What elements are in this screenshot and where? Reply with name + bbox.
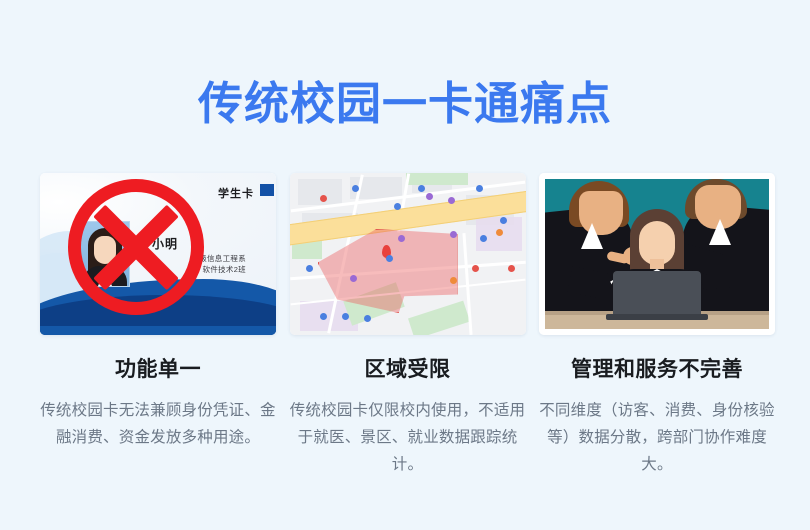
map-poi-icon <box>350 275 357 282</box>
card-title: 学生卡 <box>218 185 254 201</box>
map-poi-icon <box>342 313 349 320</box>
wave-base <box>40 326 276 335</box>
red-cross-icon <box>68 179 204 315</box>
card-heading: 区域受限 <box>290 353 526 383</box>
infographic-page: 传统校园一卡通痛点 <box>0 0 810 530</box>
map-image <box>290 173 526 335</box>
pain-point-columns: 学生卡 小明 23级信息工程系 软件技术2班 功能单一 传统校园卡无法兼顾身份凭… <box>40 173 775 493</box>
pain-point-card-1: 学生卡 小明 23级信息工程系 软件技术2班 功能单一 传统校园卡无法兼顾身份凭… <box>40 173 276 493</box>
campus-map <box>290 173 526 335</box>
map-park <box>408 301 470 335</box>
map-poi-icon <box>448 197 455 204</box>
pain-point-card-3: 管理和服务不完善 不同维度（访客、消费、身份核验等）数据分散，跨部门协作难度大。 <box>539 173 775 493</box>
map-poi-icon <box>450 231 457 238</box>
map-block <box>298 179 342 205</box>
card-badge <box>260 184 274 196</box>
card-heading: 功能单一 <box>40 353 276 383</box>
map-park <box>406 173 468 185</box>
card-body-text: 传统校园卡无法兼顾身份凭证、金融消费、资金发放多种用途。 <box>40 397 276 451</box>
student-card-image: 学生卡 小明 23级信息工程系 软件技术2班 <box>40 173 276 335</box>
card-body-text: 传统校园卡仅限校内使用，不适用于就医、景区、就业数据跟踪统计。 <box>290 397 526 478</box>
card-body-text: 不同维度（访客、消费、身份核验等）数据分散，跨部门协作难度大。 <box>539 397 775 478</box>
left-man-face <box>579 191 623 235</box>
map-poi-icon <box>480 235 487 242</box>
map-poi-icon <box>500 217 507 224</box>
map-poi-icon <box>364 315 371 322</box>
map-poi-icon <box>352 185 359 192</box>
map-poi-icon <box>508 265 515 272</box>
card-heading: 管理和服务不完善 <box>539 353 775 383</box>
student-id-card: 学生卡 小明 23级信息工程系 软件技术2班 <box>40 173 276 335</box>
card-department-line2: 软件技术2班 <box>203 265 246 274</box>
map-poi-icon <box>398 235 405 242</box>
map-poi-icon <box>496 229 503 236</box>
page-title: 传统校园一卡通痛点 <box>0 76 810 132</box>
pain-point-card-2: 区域受限 传统校园卡仅限校内使用，不适用于就医、景区、就业数据跟踪统计。 <box>290 173 526 493</box>
right-man-face <box>695 185 741 229</box>
map-poi-icon <box>476 185 483 192</box>
meeting-illustration-image <box>539 173 775 335</box>
map-poi-icon <box>386 255 393 262</box>
illustration-stage <box>545 179 769 329</box>
map-poi-icon <box>320 313 327 320</box>
map-poi-icon <box>450 277 457 284</box>
map-poi-icon <box>472 265 479 272</box>
map-poi-icon <box>306 265 313 272</box>
illustration-frame <box>539 173 775 335</box>
map-poi-icon <box>394 203 401 210</box>
map-poi-icon <box>418 185 425 192</box>
map-poi-icon <box>320 195 327 202</box>
map-poi-icon <box>426 193 433 200</box>
laptop-icon <box>613 271 701 315</box>
